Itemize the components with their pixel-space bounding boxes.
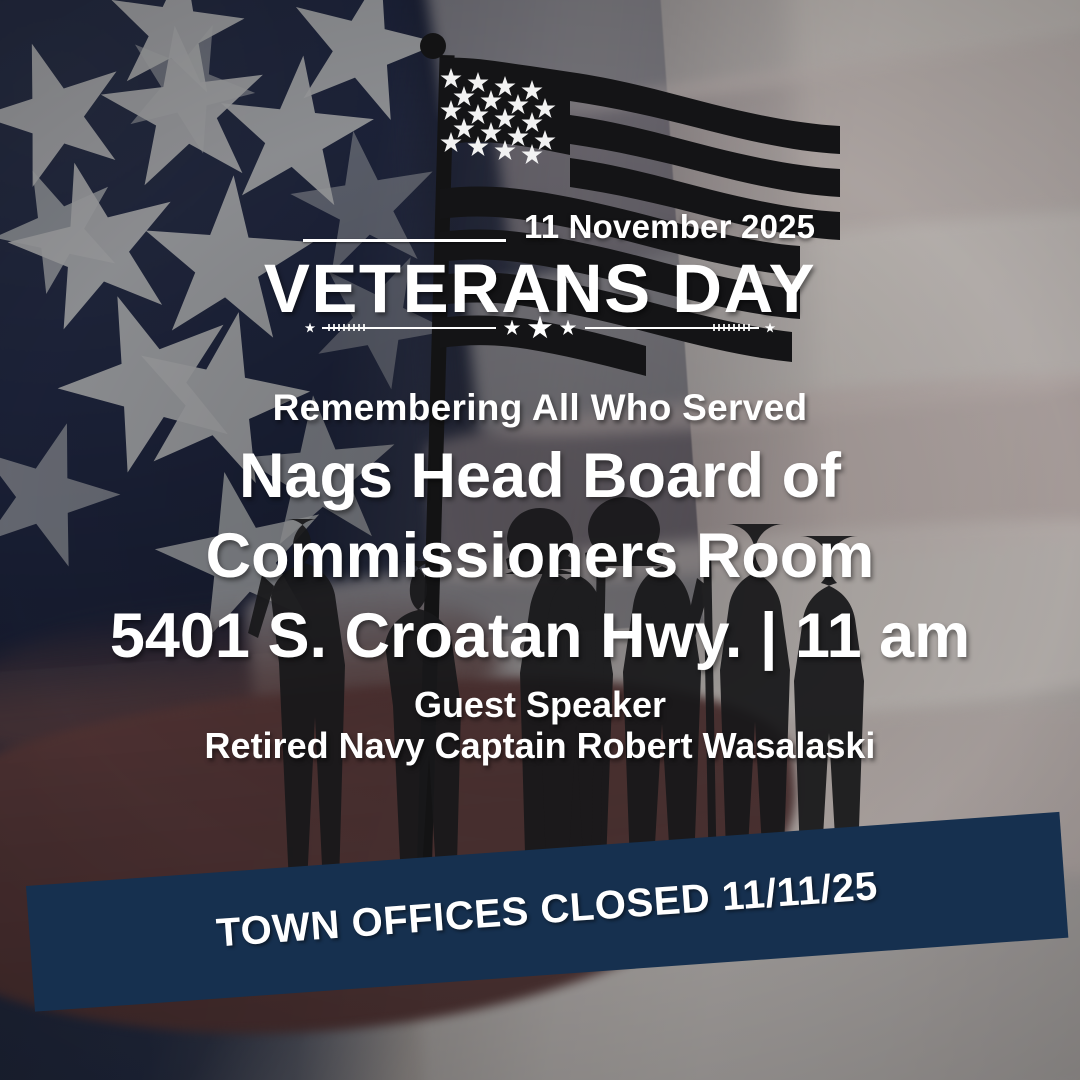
banner-text: TOWN OFFICES CLOSED 11/11/25 — [215, 864, 879, 956]
divider-flourish-icon — [322, 324, 374, 332]
star-divider — [0, 315, 1080, 341]
venue-line-1: Nags Head Board of — [0, 436, 1080, 516]
guest-speaker-label: Guest Speaker — [0, 683, 1080, 727]
divider-star-icon — [560, 320, 577, 337]
guest-speaker-name: Retired Navy Captain Robert Wasalaski — [0, 724, 1080, 768]
poster-content: 11 November 2025 VETERANS DAY Rememberin… — [0, 0, 1080, 1080]
divider-line-right — [585, 327, 707, 329]
venue-line-3: 5401 S. Croatan Hwy. | 11 am — [0, 596, 1080, 676]
venue-block: Nags Head Board of Commissioners Room 54… — [0, 436, 1080, 676]
poster-subhead: Remembering All Who Served — [0, 386, 1080, 430]
divider-star-icon — [504, 320, 521, 337]
divider-star-small-icon — [765, 323, 776, 334]
divider-flourish-icon — [707, 324, 759, 332]
town-offices-closed-banner: TOWN OFFICES CLOSED 11/11/25 — [26, 812, 1068, 1012]
divider-star-small-icon — [305, 323, 316, 334]
venue-line-2: Commissioners Room — [0, 516, 1080, 596]
event-date: 11 November 2025 — [0, 207, 1080, 247]
divider-star-center-icon — [528, 316, 553, 341]
veterans-day-poster: 11 November 2025 VETERANS DAY Rememberin… — [0, 0, 1080, 1080]
divider-line-left — [374, 327, 496, 329]
